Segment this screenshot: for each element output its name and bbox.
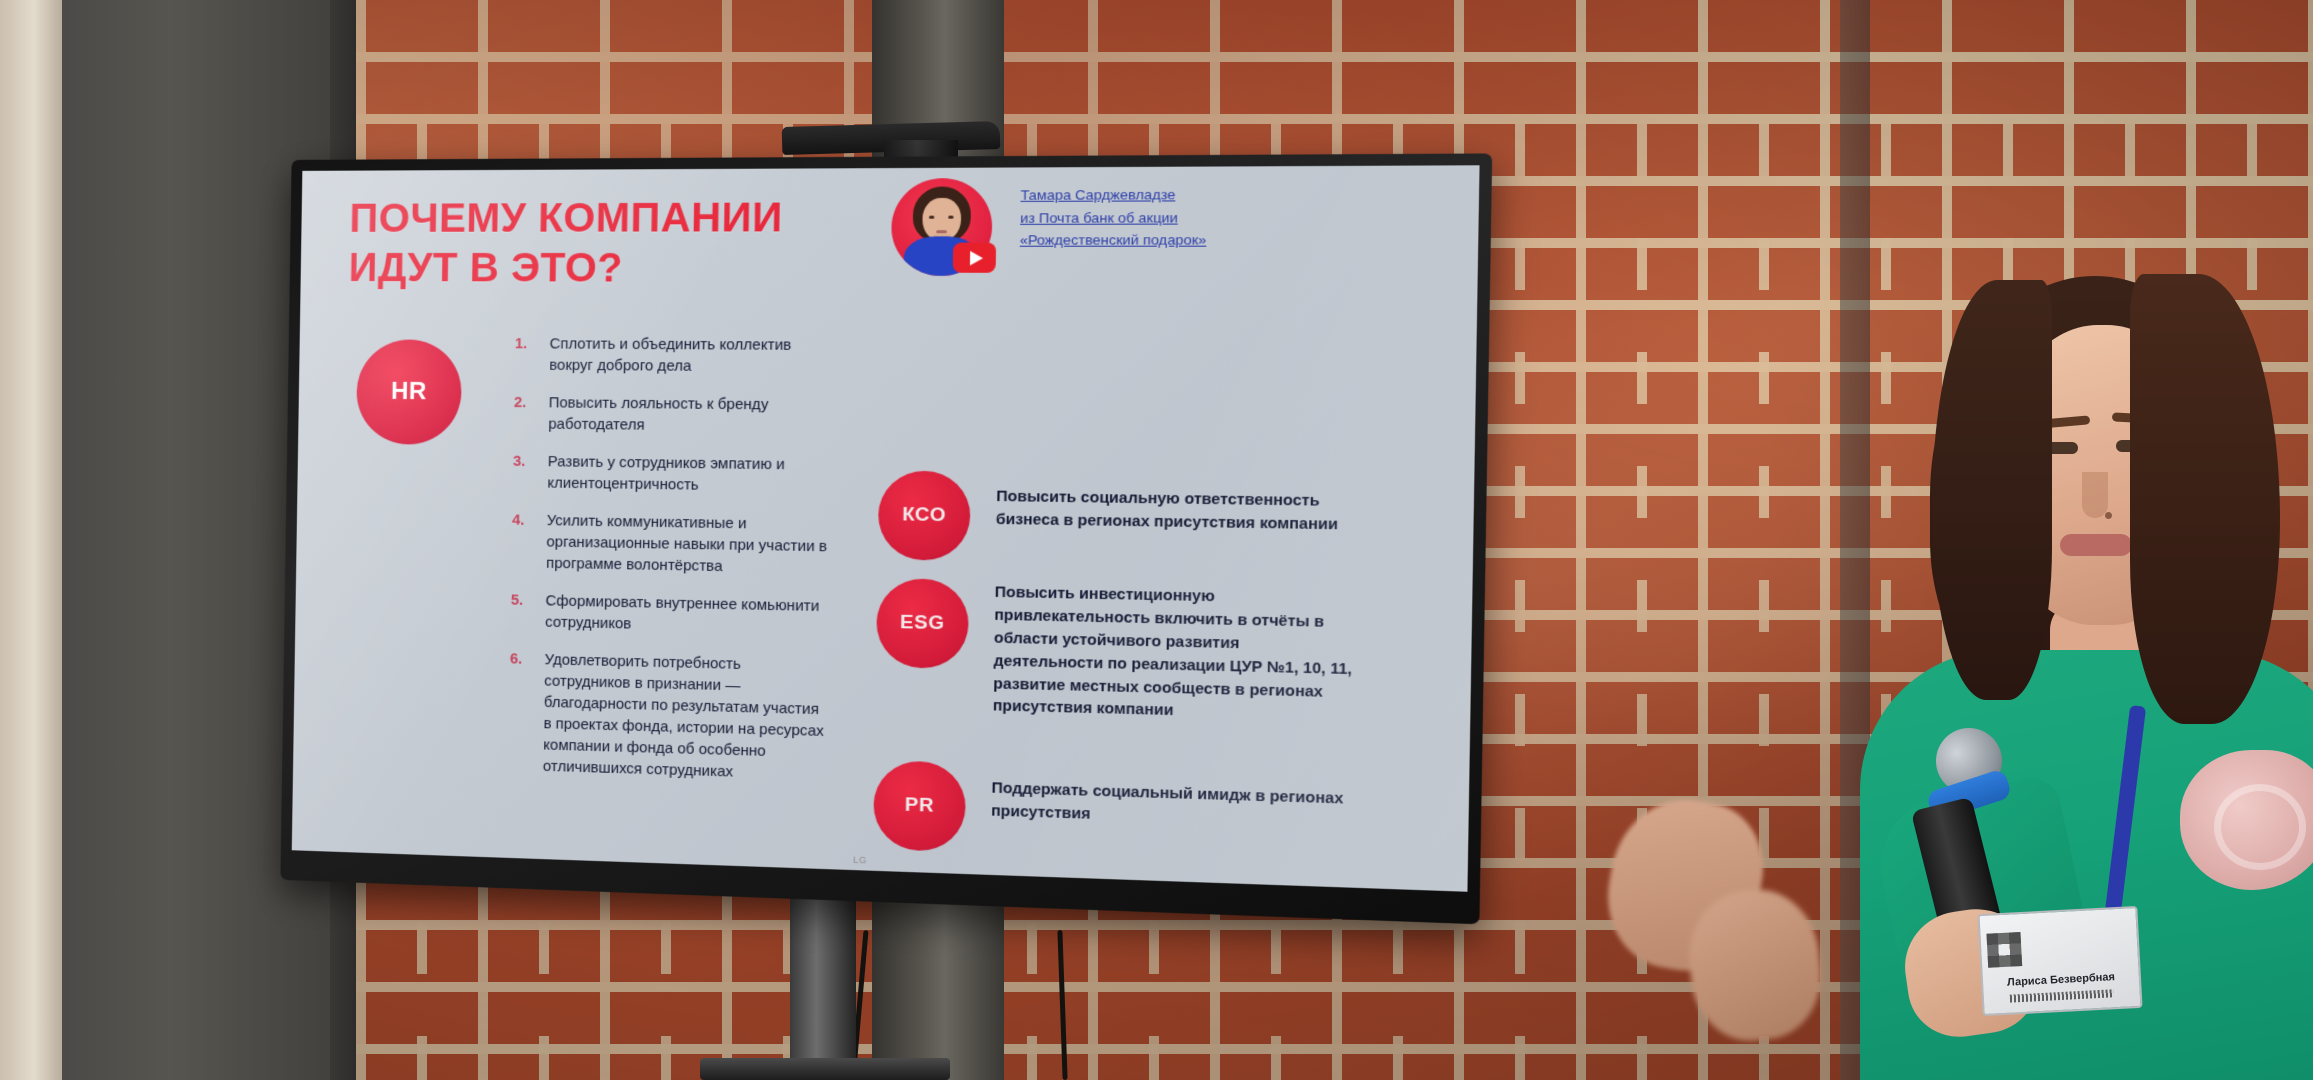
list-item-text: Повысить лояльность к бренду работодател… bbox=[548, 393, 836, 439]
list-item: 5. Сформировать внутреннее комьюнити сот… bbox=[510, 590, 832, 640]
video-link-line-1[interactable]: Тамара Сарджевладзе bbox=[1020, 183, 1228, 206]
list-item-index: 1. bbox=[514, 334, 549, 377]
kso-badge-label: КСО bbox=[902, 504, 946, 527]
kso-badge-circle: КСО bbox=[878, 470, 971, 561]
portrait-eye-left bbox=[929, 216, 934, 219]
presentation-slide: ПОЧЕМУ КОМПАНИИ ИДУТ В ЭТО? HR 1. Сплоти… bbox=[292, 165, 1480, 892]
list-item-index: 4. bbox=[511, 510, 547, 574]
presenter-person: Лариса Безвербная bbox=[1900, 250, 2313, 1080]
presentation-scene: ПОЧЕМУ КОМПАНИИ ИДУТ В ЭТО? HR 1. Сплоти… bbox=[0, 0, 2313, 1080]
list-item-index: 2. bbox=[513, 393, 548, 436]
presenter-mouth bbox=[2060, 534, 2132, 556]
video-testimonial-card[interactable]: Тамара Сарджевладзе из Почта банк об акц… bbox=[892, 177, 1217, 178]
hr-badge-circle: HR bbox=[356, 339, 462, 445]
list-item: 3. Развить у сотрудников эмпатию и клиен… bbox=[513, 452, 835, 499]
list-item-text: Сформировать внутреннее комьюнити сотруд… bbox=[545, 591, 833, 640]
tv-stand-foot bbox=[700, 1058, 950, 1080]
pr-badge-circle: PR bbox=[873, 760, 966, 852]
play-triangle-icon bbox=[969, 250, 982, 265]
presenter-mole bbox=[2105, 512, 2112, 519]
presenter-nose bbox=[2082, 472, 2108, 518]
hr-badge-label: HR bbox=[391, 378, 427, 406]
video-link-line-2[interactable]: из Почта банк об акции bbox=[1020, 206, 1228, 229]
tv-stand-column bbox=[790, 880, 856, 1080]
presenter-hair-left bbox=[1932, 280, 2052, 700]
television-display[interactable]: ПОЧЕМУ КОМПАНИИ ИДУТ В ЭТО? HR 1. Сплоти… bbox=[280, 153, 1492, 924]
list-item-text: Сплотить и объединить коллектив вокруг д… bbox=[549, 334, 837, 379]
list-item-index: 6. bbox=[508, 649, 545, 778]
list-item-text: Удовлетворить потребность сотрудников в … bbox=[543, 650, 832, 787]
list-item: 6. Удовлетворить потребность сотрудников… bbox=[508, 649, 831, 786]
video-link-text[interactable]: Тамара Сарджевладзе из Почта банк об акц… bbox=[1020, 183, 1229, 252]
esg-badge-label: ESG bbox=[900, 612, 945, 636]
tv-screen: ПОЧЕМУ КОМПАНИИ ИДУТ В ЭТО? HR 1. Сплоти… bbox=[292, 165, 1480, 892]
badge-name-text: Лариса Безвербная bbox=[1983, 970, 2139, 990]
speaker-portrait bbox=[891, 178, 993, 276]
youtube-play-icon[interactable] bbox=[953, 243, 996, 273]
video-link-line-3[interactable]: «Рождественский подарок» bbox=[1020, 229, 1228, 252]
list-item-index: 3. bbox=[513, 452, 548, 495]
esg-badge-circle: ESG bbox=[876, 578, 969, 669]
portrait-mouth bbox=[936, 230, 947, 233]
pr-description: Поддержать социальный имидж в регионах п… bbox=[991, 764, 1354, 836]
list-item-text: Усилить коммуникативные и организационны… bbox=[546, 511, 834, 580]
list-item-index: 5. bbox=[510, 590, 545, 633]
list-item-text: Развить у сотрудников эмпатию и клиентоц… bbox=[547, 452, 835, 499]
kso-description: Повысить социальную ответственность бизн… bbox=[996, 472, 1360, 538]
wall-edge-left bbox=[0, 0, 62, 1080]
hr-objectives-list: 1. Сплотить и объединить коллектив вокру… bbox=[508, 334, 837, 803]
badge-barcode-icon bbox=[2010, 989, 2114, 1002]
portrait-eye-right bbox=[948, 216, 953, 219]
list-item: 4. Усилить коммуникативные и организацио… bbox=[511, 510, 834, 580]
tv-brand-logo: LG bbox=[853, 855, 867, 866]
pr-badge-label: PR bbox=[905, 794, 935, 818]
list-item: 1. Сплотить и объединить коллектив вокру… bbox=[514, 334, 836, 379]
presenter-name-badge: Лариса Безвербная bbox=[1977, 906, 2142, 1016]
esg-description: Повысить инвестиционную привлекательност… bbox=[993, 580, 1358, 728]
presenter-hair-right bbox=[2130, 274, 2280, 724]
presenter-fabric-flower-brooch bbox=[2180, 750, 2313, 890]
list-item: 2. Повысить лояльность к бренду работода… bbox=[513, 393, 835, 439]
pillar-esg: ESG Повысить инвестиционную привлекатель… bbox=[875, 578, 1357, 729]
slide-title: ПОЧЕМУ КОМПАНИИ ИДУТ В ЭТО? bbox=[348, 193, 864, 294]
tv-bezel: ПОЧЕМУ КОМПАНИИ ИДУТ В ЭТО? HR 1. Сплоти… bbox=[280, 153, 1492, 924]
pillar-kso: КСО Повысить социальную ответственность … bbox=[878, 470, 1360, 567]
pillar-pr: PR Поддержать социальный имидж в региона… bbox=[873, 760, 1354, 865]
qr-code-icon bbox=[1986, 932, 2022, 968]
